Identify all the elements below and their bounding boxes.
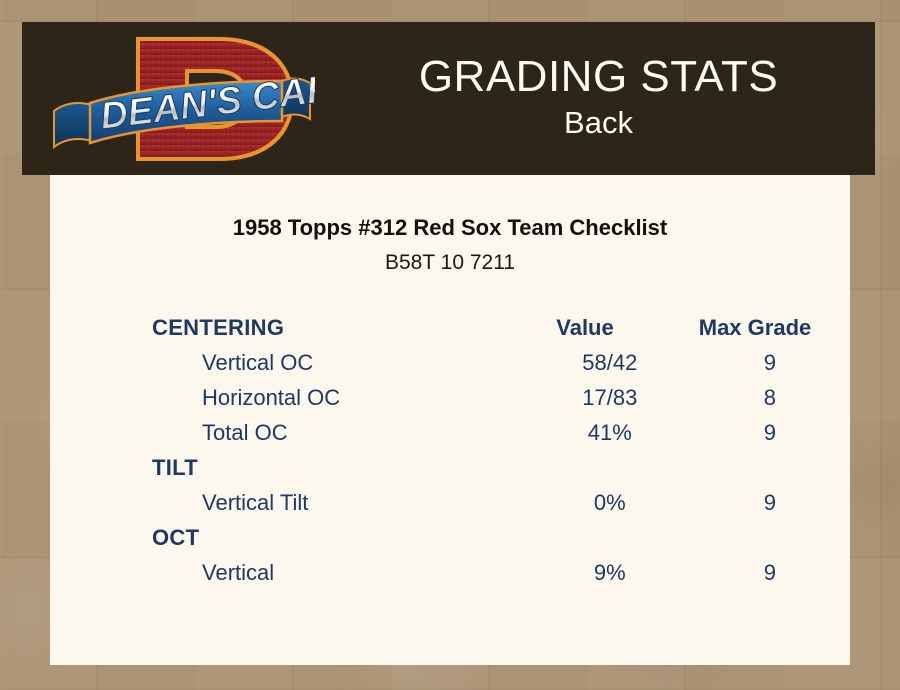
table-row: Total OC 41% 9	[150, 420, 850, 455]
table-row: Vertical OC 58/42 9	[150, 350, 850, 385]
row-grade-total-oc: 9	[690, 420, 850, 446]
table-row: Vertical Tilt 0% 9	[150, 490, 850, 525]
row-label-vertical-oc: Vertical OC	[150, 350, 530, 376]
table-row: OCT	[150, 525, 850, 560]
table-row: CENTERING Value Max Grade	[150, 315, 850, 350]
row-value-total-oc: 41%	[530, 420, 690, 446]
page-title: GRADING STATS	[419, 54, 778, 100]
row-label-vertical-tilt: Vertical Tilt	[150, 490, 530, 516]
section-heading-oct: OCT	[150, 525, 500, 551]
row-grade-vertical-tilt: 9	[690, 490, 850, 516]
row-value-vertical-tilt: 0%	[530, 490, 690, 516]
section-heading-tilt: TILT	[150, 455, 500, 481]
column-header-value: Value	[500, 315, 670, 341]
grading-stats-table: CENTERING Value Max Grade Vertical OC 58…	[150, 315, 850, 595]
row-grade-vertical-oc: 9	[690, 350, 850, 376]
column-header-max-grade: Max Grade	[670, 315, 840, 341]
content-panel: 1958 Topps #312 Red Sox Team Checklist B…	[50, 175, 850, 665]
row-grade-vertical: 9	[690, 560, 850, 586]
row-label-horizontal-oc: Horizontal OC	[150, 385, 530, 411]
deans-cards-logo[interactable]: DEAN'S CARDS	[50, 25, 315, 173]
page-subtitle: Back	[564, 104, 633, 143]
table-row: TILT	[150, 455, 850, 490]
row-value-vertical-oc: 58/42	[530, 350, 690, 376]
row-label-vertical: Vertical	[150, 560, 530, 586]
header-title-block: GRADING STATS Back	[322, 22, 875, 175]
table-row: Horizontal OC 17/83 8	[150, 385, 850, 420]
card-title: 1958 Topps #312 Red Sox Team Checklist	[50, 215, 850, 241]
section-heading-centering: CENTERING	[150, 315, 500, 341]
row-grade-horizontal-oc: 8	[690, 385, 850, 411]
table-row: Vertical 9% 9	[150, 560, 850, 595]
row-label-total-oc: Total OC	[150, 420, 530, 446]
row-value-vertical: 9%	[530, 560, 690, 586]
card-subtitle: B58T 10 7211	[50, 251, 850, 275]
row-value-horizontal-oc: 17/83	[530, 385, 690, 411]
header-bar: DEAN'S CARDS GRADING STATS Back	[22, 22, 875, 175]
